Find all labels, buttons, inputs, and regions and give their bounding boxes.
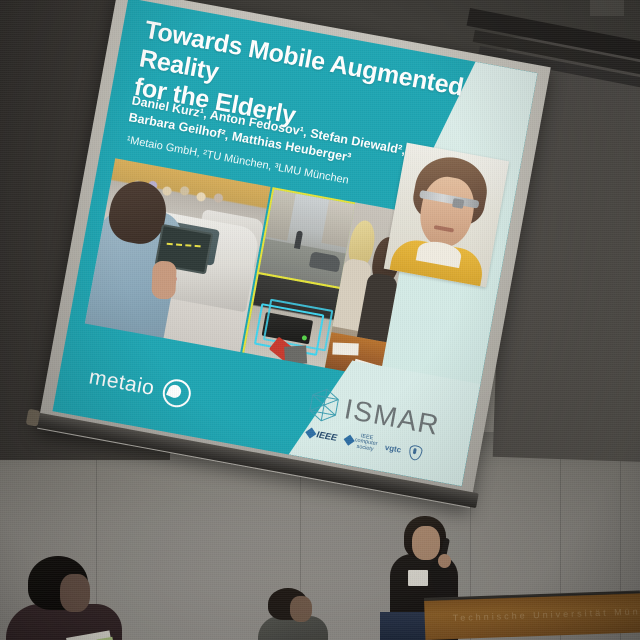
smartglasses-prism-icon (452, 198, 464, 209)
street-building-left (266, 190, 296, 241)
ieee-diamond-icon (305, 428, 316, 439)
ieee-logo: IEEE (306, 428, 338, 443)
seated-attendee (256, 588, 336, 640)
speaker-face (412, 526, 440, 560)
cs-diamond-icon (343, 435, 354, 446)
vgtc-logo: vgtc (384, 443, 402, 455)
attendee-with-papers (6, 556, 112, 640)
speaker-conference-badge (408, 570, 428, 586)
metaio-eye-mark-icon (161, 377, 194, 410)
presentation-photo-scene: Towards Mobile Augmented Reality for the… (0, 0, 640, 640)
lectern: Technische Universität München (424, 590, 640, 640)
speaker-hand (438, 554, 451, 568)
ismar-wireframe-cube-icon (305, 384, 343, 425)
attendee-face (60, 574, 90, 612)
projection-screen: Towards Mobile Augmented Reality for the… (35, 0, 551, 520)
lectern-inscription: Technische Universität München (453, 605, 640, 623)
seated-attendee-face (290, 596, 312, 622)
table-paper (332, 342, 358, 355)
ieee-label: IEEE (316, 430, 338, 444)
projected-slide: Towards Mobile Augmented Reality for the… (53, 0, 538, 486)
photo-person-hand (151, 261, 177, 300)
ceiling-notch (590, 0, 624, 16)
vgtc-secondary-logo-icon (408, 444, 423, 461)
